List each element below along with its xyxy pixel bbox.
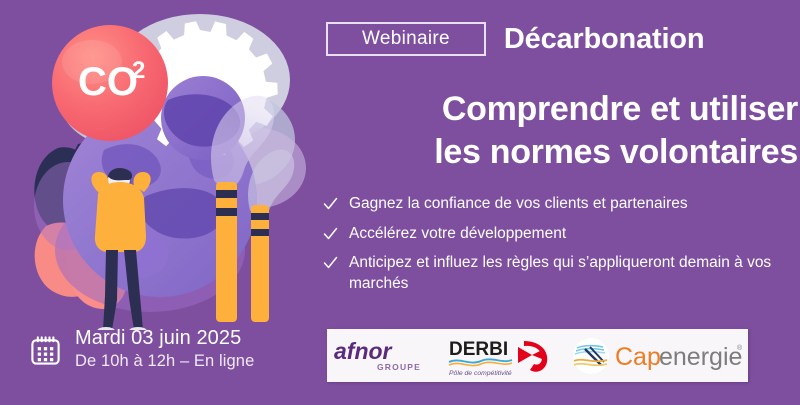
- event-date-text: Mardi 03 juin 2025 De 10h à 12h – En lig…: [75, 327, 254, 372]
- list-item-label: Accélérez votre développement: [349, 224, 566, 245]
- capenergies-logo-registered: ®: [737, 344, 743, 352]
- check-icon: [323, 253, 338, 272]
- co2-superscript: 2: [132, 57, 145, 84]
- check-icon: [323, 224, 338, 243]
- list-item: Gagnez la confiance de vos clients et pa…: [323, 194, 798, 215]
- page-title: Comprendre et utiliser les normes volont…: [328, 88, 798, 174]
- capenergies-logo-mark: [573, 338, 609, 374]
- list-item-label: Anticipez et influez les règles qui s’ap…: [349, 253, 798, 294]
- calendar-icon: [29, 333, 62, 367]
- capenergies-logo-primary: Cap: [615, 343, 661, 371]
- derbi-logo-subtext: Pôle de compétitivité: [449, 370, 512, 377]
- afnor-logo: afnor GROUPE: [333, 337, 437, 374]
- capenergies-logo: Cap energies ®: [571, 337, 743, 375]
- check-icon: [323, 194, 338, 213]
- partner-logo-bar: afnor GROUPE DERBI Pôle de compétitivité: [327, 329, 748, 382]
- derbi-logo-wordmark: DERBI: [449, 339, 508, 360]
- co2-climate-illustration: CO 2: [0, 0, 310, 330]
- event-date-main: Mardi 03 juin 2025: [75, 327, 254, 351]
- webinar-banner: CO 2: [0, 0, 800, 405]
- list-item-label: Gagnez la confiance de vos clients et pa…: [349, 194, 688, 215]
- afnor-logo-subtext: GROUPE: [377, 362, 421, 372]
- capenergies-logo-secondary: energies: [659, 343, 743, 371]
- derbi-logo: DERBI Pôle de compétitivité: [448, 335, 560, 377]
- eyebrow-row: Webinaire Décarbonation: [326, 22, 704, 56]
- headline-line-2: les normes volontaires: [328, 131, 798, 174]
- webinaire-badge-label: Webinaire: [362, 28, 450, 49]
- list-item: Accélérez votre développement: [323, 224, 798, 245]
- co2-label: CO: [78, 60, 138, 104]
- co2-bubble: CO 2: [52, 25, 168, 141]
- headline-line-1: Comprendre et utiliser: [328, 88, 798, 131]
- afnor-logo-wordmark: afnor: [334, 338, 393, 364]
- benefits-list: Gagnez la confiance de vos clients et pa…: [323, 194, 798, 303]
- event-date-block: Mardi 03 juin 2025 De 10h à 12h – En lig…: [29, 327, 254, 372]
- list-item: Anticipez et influez les règles qui s’ap…: [323, 253, 798, 294]
- topic-title: Décarbonation: [504, 23, 704, 56]
- content-column: Webinaire Décarbonation Comprendre et ut…: [315, 0, 800, 320]
- event-time-mode: De 10h à 12h – En ligne: [75, 351, 254, 372]
- derbi-logo-mark: [518, 341, 547, 372]
- webinaire-badge: Webinaire: [326, 22, 486, 56]
